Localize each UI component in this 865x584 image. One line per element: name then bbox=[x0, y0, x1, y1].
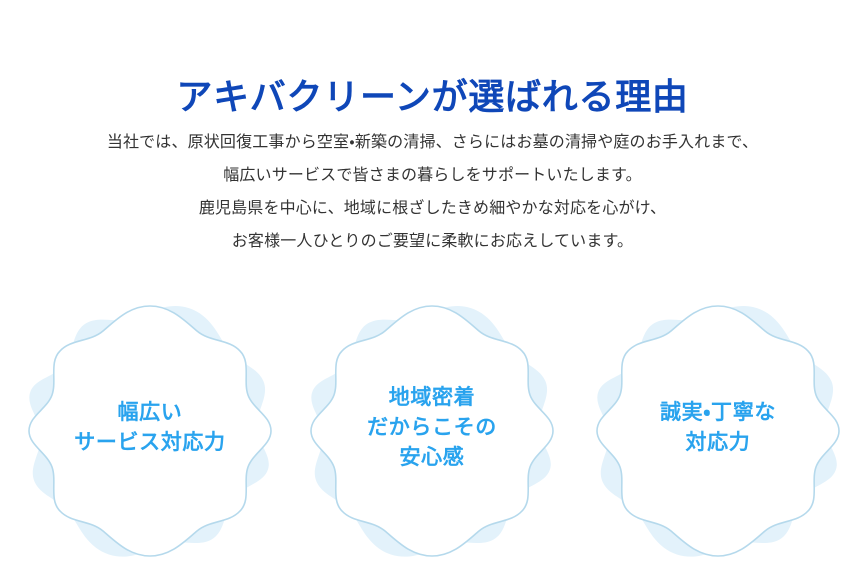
starburst-front-shape bbox=[29, 306, 271, 556]
starburst-shape-icon bbox=[293, 286, 571, 570]
starburst-shape-icon bbox=[11, 286, 289, 570]
page-title: アキバクリーンが選ばれる理由 bbox=[0, 74, 865, 120]
reason-badge-3: 誠実・丁寧な 対応力 bbox=[579, 286, 857, 570]
lead-line-3: 鹿児島県を中心に、地域に根ざしたきめ細やかな対応を心がけ、 bbox=[0, 192, 865, 225]
reason-badge-1: 幅広い サービス対応力 bbox=[11, 286, 289, 570]
lead-line-4: お客様一人ひとりのご要望に柔軟にお応えしています。 bbox=[0, 225, 865, 258]
starburst-shape-icon bbox=[579, 286, 857, 570]
reason-badges-row: 幅広い サービス対応力 地域密着 だからこその 安心感 bbox=[0, 286, 865, 576]
starburst-front-shape bbox=[597, 306, 839, 556]
starburst-front-shape bbox=[311, 306, 553, 556]
reason-badge-2: 地域密着 だからこその 安心感 bbox=[293, 286, 571, 570]
lead-paragraph: 当社では、原状回復工事から空室・新築の清掃、さらにはお墓の清掃や庭のお手入れまで… bbox=[0, 126, 865, 258]
lead-line-2: 幅広いサービスで皆さまの暮らしをサポートいたします。 bbox=[0, 159, 865, 192]
reasons-section: アキバクリーンが選ばれる理由 当社では、原状回復工事から空室・新築の清掃、さらに… bbox=[0, 0, 865, 584]
lead-line-1: 当社では、原状回復工事から空室・新築の清掃、さらにはお墓の清掃や庭のお手入れまで… bbox=[0, 126, 865, 159]
